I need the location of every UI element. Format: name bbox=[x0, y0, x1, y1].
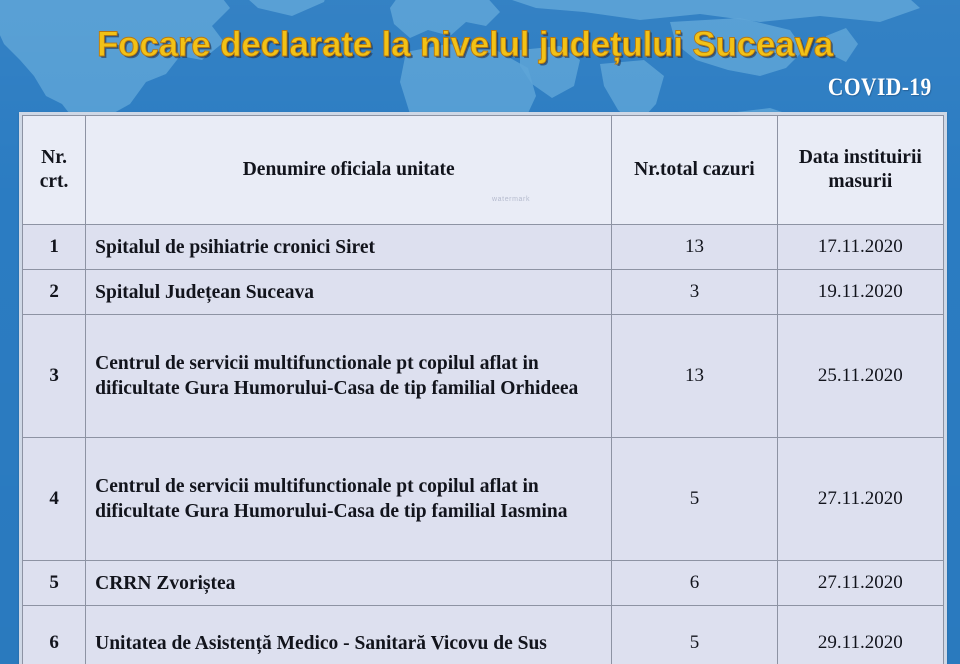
table-row: 4 Centrul de servicii multifunctionale p… bbox=[23, 438, 944, 561]
table-row: 5 CRRN Zvoriștea 6 27.11.2020 bbox=[23, 561, 944, 606]
column-header-denumire: Denumire oficiala unitate bbox=[86, 116, 612, 225]
cell-date: 27.11.2020 bbox=[777, 438, 943, 561]
cell-date: 17.11.2020 bbox=[777, 225, 943, 270]
table-row: 1 Spitalul de psihiatrie cronici Siret 1… bbox=[23, 225, 944, 270]
cell-nr-crt: 4 bbox=[23, 438, 86, 561]
outbreaks-table: Nr. crt. Denumire oficiala unitate Nr.to… bbox=[22, 115, 944, 664]
cell-cases: 13 bbox=[612, 315, 777, 438]
cell-nr-crt: 1 bbox=[23, 225, 86, 270]
cell-cases: 5 bbox=[612, 606, 777, 664]
cell-name: Spitalul de psihiatrie cronici Siret bbox=[86, 225, 612, 270]
column-header-data-line2: masurii bbox=[828, 171, 892, 192]
slide-canvas: Focare declarate la nivelul județului Su… bbox=[0, 0, 960, 664]
column-header-nr-crt: Nr. crt. bbox=[23, 116, 86, 225]
cell-date: 25.11.2020 bbox=[777, 315, 943, 438]
cell-cases: 13 bbox=[612, 225, 777, 270]
cell-name: Centrul de servicii multifunctionale pt … bbox=[86, 315, 612, 438]
page-title: Focare declarate la nivelul județului Su… bbox=[0, 24, 930, 66]
table-body: 1 Spitalul de psihiatrie cronici Siret 1… bbox=[23, 225, 944, 664]
outbreaks-table-container: Nr. crt. Denumire oficiala unitate Nr.to… bbox=[19, 112, 947, 664]
cell-cases: 6 bbox=[612, 561, 777, 606]
column-header-data-line1: Data instituirii bbox=[799, 147, 922, 168]
cell-name: Unitatea de Asistență Medico - Sanitară … bbox=[86, 606, 612, 664]
table-row: 3 Centrul de servicii multifunctionale p… bbox=[23, 315, 944, 438]
cell-nr-crt: 2 bbox=[23, 270, 86, 315]
column-header-data-instituirii: Data instituirii masurii bbox=[777, 116, 943, 225]
table-row: 2 Spitalul Județean Suceava 3 19.11.2020 bbox=[23, 270, 944, 315]
slide-header: Focare declarate la nivelul județului Su… bbox=[0, 0, 960, 108]
cell-name: Centrul de servicii multifunctionale pt … bbox=[86, 438, 612, 561]
cell-date: 19.11.2020 bbox=[777, 270, 943, 315]
cell-date: 29.11.2020 bbox=[777, 606, 943, 664]
column-header-nr-total-cazuri: Nr.total cazuri bbox=[612, 116, 777, 225]
cell-nr-crt: 5 bbox=[23, 561, 86, 606]
column-header-nr-crt-line1: Nr. bbox=[41, 147, 67, 168]
cell-cases: 5 bbox=[612, 438, 777, 561]
table-header: Nr. crt. Denumire oficiala unitate Nr.to… bbox=[23, 116, 944, 225]
cell-date: 27.11.2020 bbox=[777, 561, 943, 606]
cell-nr-crt: 3 bbox=[23, 315, 86, 438]
cell-name: CRRN Zvoriștea bbox=[86, 561, 612, 606]
column-header-nr-crt-line2: crt. bbox=[40, 171, 69, 192]
table-header-row: Nr. crt. Denumire oficiala unitate Nr.to… bbox=[23, 116, 944, 225]
cell-name: Spitalul Județean Suceava bbox=[86, 270, 612, 315]
cell-cases: 3 bbox=[612, 270, 777, 315]
table-row: 6 Unitatea de Asistență Medico - Sanitar… bbox=[23, 606, 944, 664]
cell-nr-crt: 6 bbox=[23, 606, 86, 664]
covid-badge: COVID-19 bbox=[828, 74, 932, 102]
